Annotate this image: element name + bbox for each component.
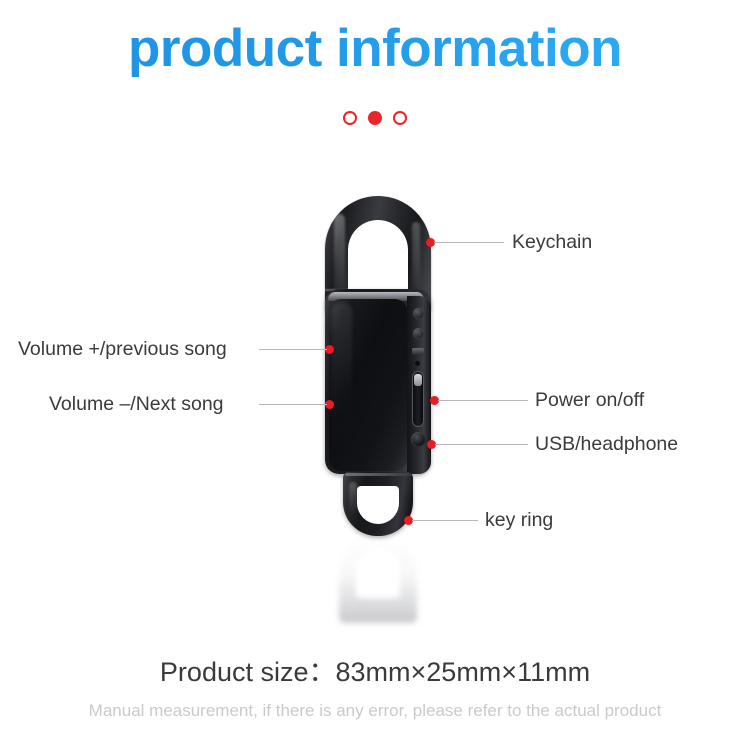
page-title: product information — [0, 16, 750, 82]
callout-leader-key-ring — [412, 520, 478, 521]
pager-dot-2[interactable] — [368, 111, 382, 125]
hook-highlight-left — [334, 214, 345, 296]
product-size-value: 83mm×25mm×11mm — [336, 657, 591, 687]
surface-reflection-hole — [356, 548, 400, 598]
callout-label-key-ring: key ring — [485, 509, 553, 531]
callout-leader-keychain — [434, 242, 504, 243]
callout-label-usb-headphone: USB/headphone — [535, 433, 678, 455]
product-info-infographic: product information Keych — [0, 0, 750, 750]
product-size-label: Product size： — [160, 657, 336, 687]
callout-leader-volume-down — [259, 404, 327, 405]
measurement-disclaimer: Manual measurement, if there is any erro… — [0, 701, 750, 721]
microphone-hole — [415, 361, 420, 366]
product-size-line: Product size：83mm×25mm×11mm — [0, 650, 750, 689]
volume-up-button[interactable] — [413, 308, 424, 319]
usb-headphone-jack — [411, 432, 426, 447]
key-ring-highlight — [349, 482, 357, 516]
pager-dot-1[interactable] — [343, 111, 357, 125]
volume-down-button[interactable] — [413, 328, 424, 339]
callout-leader-usb-headphone — [435, 444, 528, 445]
callout-label-keychain: Keychain — [512, 231, 592, 253]
key-ring-seam — [345, 473, 411, 476]
product-image — [312, 196, 442, 541]
mode-switch[interactable] — [412, 348, 424, 355]
pager-dots — [0, 111, 750, 125]
hook-highlight-right — [412, 222, 420, 294]
pager-dot-3[interactable] — [393, 111, 407, 125]
callout-label-volume-up: Volume +/previous song — [18, 338, 227, 360]
callout-label-power: Power on/off — [535, 389, 644, 411]
power-switch-knob[interactable] — [414, 374, 422, 386]
callout-label-volume-down: Volume –/Next song — [49, 393, 224, 415]
callout-leader-volume-up — [259, 349, 327, 350]
callout-leader-power — [438, 400, 528, 401]
panel-highlight — [332, 302, 352, 462]
